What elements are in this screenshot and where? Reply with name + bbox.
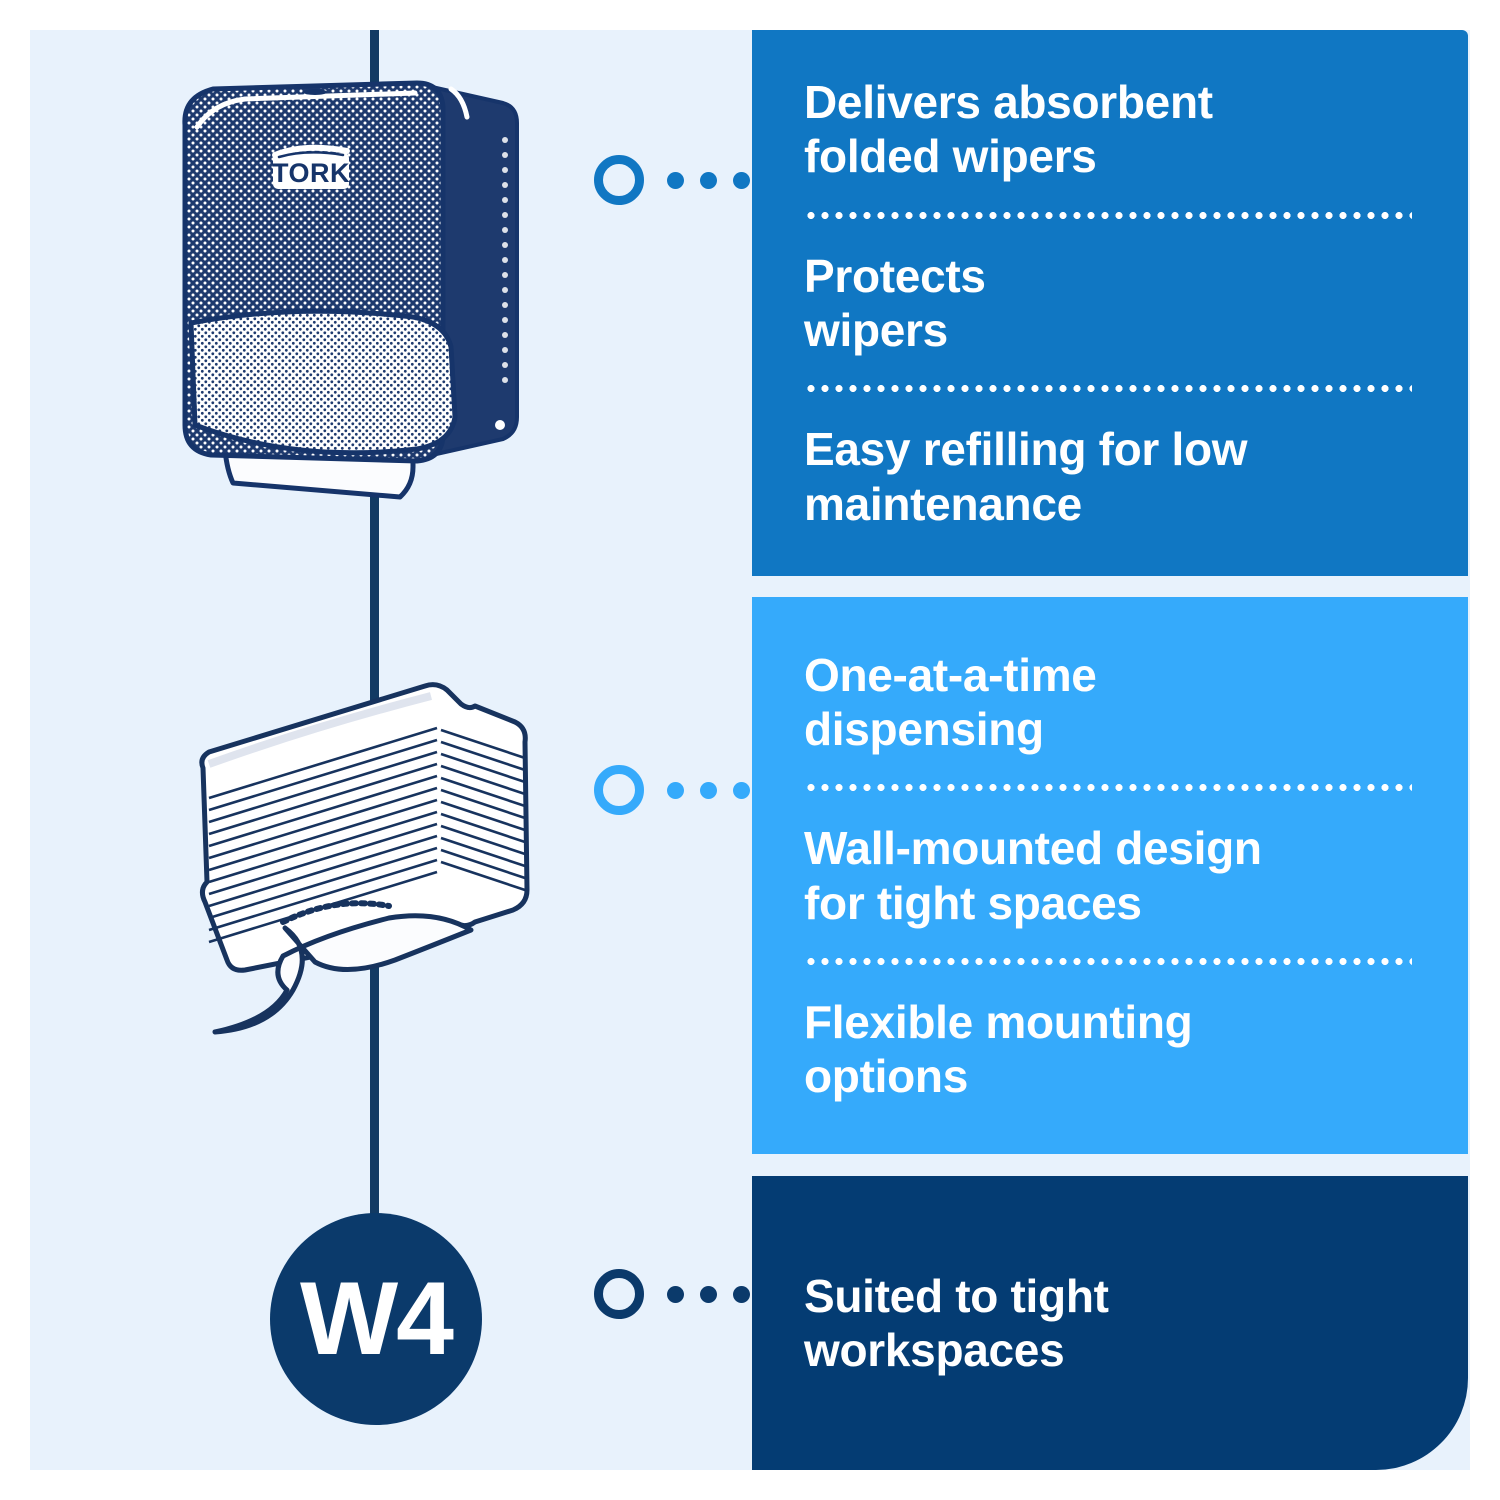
connector-dot xyxy=(733,782,750,799)
feature-divider xyxy=(804,958,1412,965)
feature-item: Protects wipers xyxy=(804,249,1412,358)
connector-dot xyxy=(700,782,717,799)
feature-panel-tertiary: Suited to tight workspaces xyxy=(752,1176,1468,1470)
connector-dot xyxy=(667,1286,684,1303)
feature-item: Flexible mounting options xyxy=(804,995,1412,1104)
connector-ring-icon xyxy=(594,155,644,205)
infographic-root: TORK xyxy=(0,0,1500,1500)
tork-dispenser-illustration: TORK xyxy=(155,65,555,565)
connector-dot xyxy=(733,172,750,189)
connector-ring-icon xyxy=(594,765,644,815)
connector-dot xyxy=(700,172,717,189)
svg-text:TORK: TORK xyxy=(272,158,350,188)
connector-ring-icon xyxy=(594,1269,644,1319)
feature-divider xyxy=(804,212,1412,219)
illustration-column: TORK xyxy=(30,30,750,1470)
dispenser-top-slot xyxy=(303,89,327,95)
feature-item: Delivers absorbent folded wipers xyxy=(804,75,1412,184)
connector-dot xyxy=(733,1286,750,1303)
dispenser-lock-hole xyxy=(495,420,505,430)
connector-dot xyxy=(667,172,684,189)
folded-wiper-refill-illustration xyxy=(175,660,575,1050)
connector-dot xyxy=(700,1286,717,1303)
feature-divider xyxy=(804,385,1412,392)
w4-badge-label: W4 xyxy=(300,1267,452,1371)
feature-panel-secondary: One-at-a-time dispensing Wall-mounted de… xyxy=(752,597,1468,1154)
feature-divider xyxy=(804,784,1412,791)
feature-panel-primary: Delivers absorbent folded wipers Protect… xyxy=(752,30,1468,576)
connector-dot xyxy=(667,782,684,799)
feature-item: Easy refilling for low maintenance xyxy=(804,422,1412,531)
feature-item: Suited to tight workspaces xyxy=(804,1269,1412,1378)
w4-system-badge: W4 xyxy=(270,1213,482,1425)
tork-logo: TORK xyxy=(272,148,350,189)
feature-item: Wall-mounted design for tight spaces xyxy=(804,821,1412,930)
feature-item: One-at-a-time dispensing xyxy=(804,648,1412,757)
dispenser-front-panel xyxy=(191,311,455,453)
